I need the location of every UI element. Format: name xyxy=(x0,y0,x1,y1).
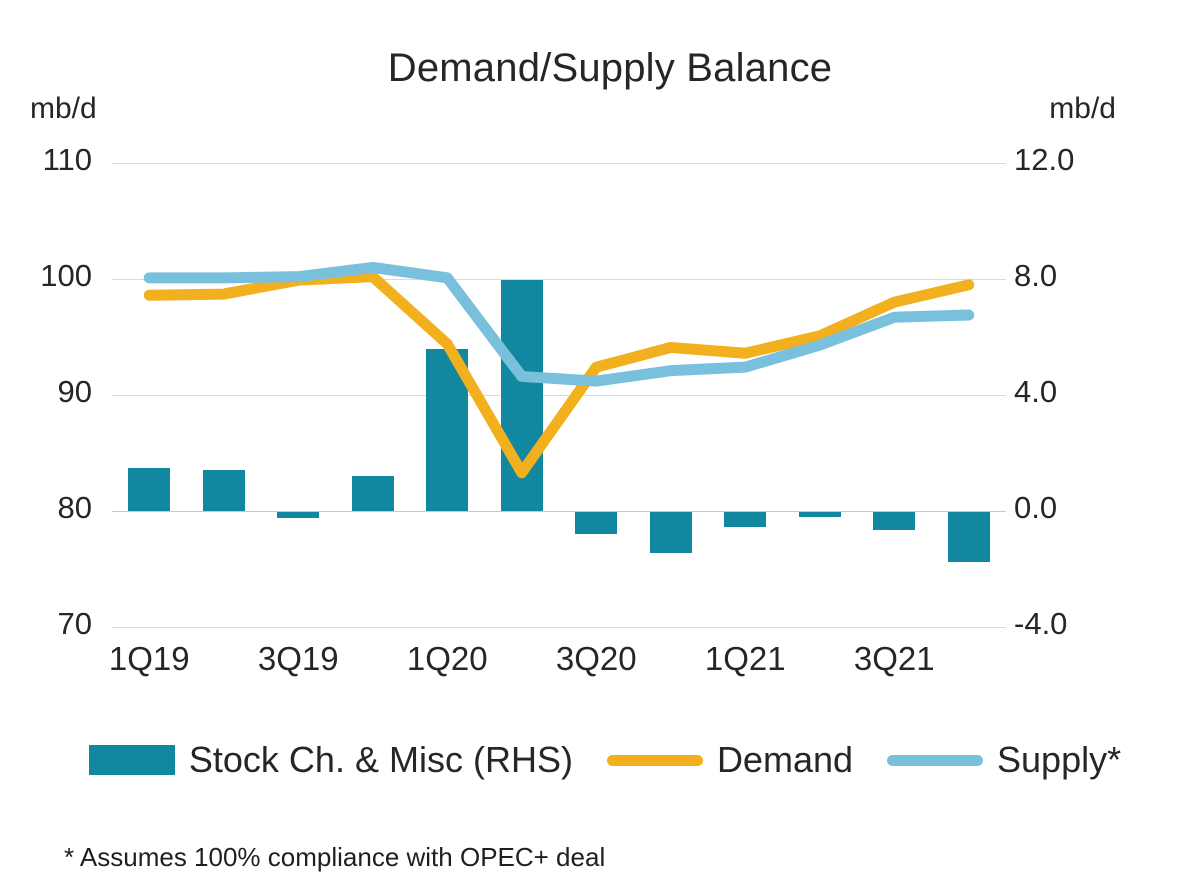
chart-canvas: Demand/Supply Balance mb/d mb/d 70809010… xyxy=(0,0,1200,893)
x-axis-ticks: 1Q193Q191Q203Q201Q213Q21 xyxy=(112,640,1006,696)
left-axis-tick-label: 70 xyxy=(18,606,92,642)
legend-item-label: Supply* xyxy=(997,739,1121,781)
left-axis-tick-label: 100 xyxy=(18,258,92,294)
right-axis-tick-label: 12.0 xyxy=(1014,142,1134,178)
legend-bar-swatch-icon xyxy=(89,745,175,775)
left-axis-unit-label: mb/d xyxy=(30,92,97,126)
left-axis-tick-label: 80 xyxy=(18,490,92,526)
legend-item[interactable]: Supply* xyxy=(887,739,1121,781)
x-axis-tick-label: 1Q21 xyxy=(705,640,786,678)
plot-area xyxy=(112,163,1006,627)
gridline xyxy=(112,627,1006,628)
legend-item-label: Stock Ch. & Misc (RHS) xyxy=(189,739,573,781)
right-axis-tick-label: -4.0 xyxy=(1014,606,1134,642)
x-axis-tick-label: 1Q20 xyxy=(407,640,488,678)
x-axis-tick-label: 1Q19 xyxy=(109,640,190,678)
legend-item-label: Demand xyxy=(717,739,853,781)
x-axis-tick-label: 3Q21 xyxy=(854,640,935,678)
legend-line-swatch-icon xyxy=(887,755,983,766)
chart-footnote: * Assumes 100% compliance with OPEC+ dea… xyxy=(64,842,605,873)
legend-line-swatch-icon xyxy=(607,755,703,766)
legend-item[interactable]: Demand xyxy=(607,739,853,781)
right-axis-tick-label: 0.0 xyxy=(1014,490,1134,526)
x-axis-tick-label: 3Q20 xyxy=(556,640,637,678)
left-axis-tick-label: 90 xyxy=(18,374,92,410)
left-axis-tick-label: 110 xyxy=(18,142,92,178)
chart-legend: Stock Ch. & Misc (RHS)DemandSupply* xyxy=(0,730,1200,790)
right-axis-unit-label: mb/d xyxy=(1049,92,1116,126)
legend-item[interactable]: Stock Ch. & Misc (RHS) xyxy=(89,739,573,781)
line-series-layer xyxy=(112,163,1006,627)
x-axis-tick-label: 3Q19 xyxy=(258,640,339,678)
chart-title: Demand/Supply Balance xyxy=(0,46,1200,91)
right-axis-tick-label: 8.0 xyxy=(1014,258,1134,294)
right-axis-tick-label: 4.0 xyxy=(1014,374,1134,410)
